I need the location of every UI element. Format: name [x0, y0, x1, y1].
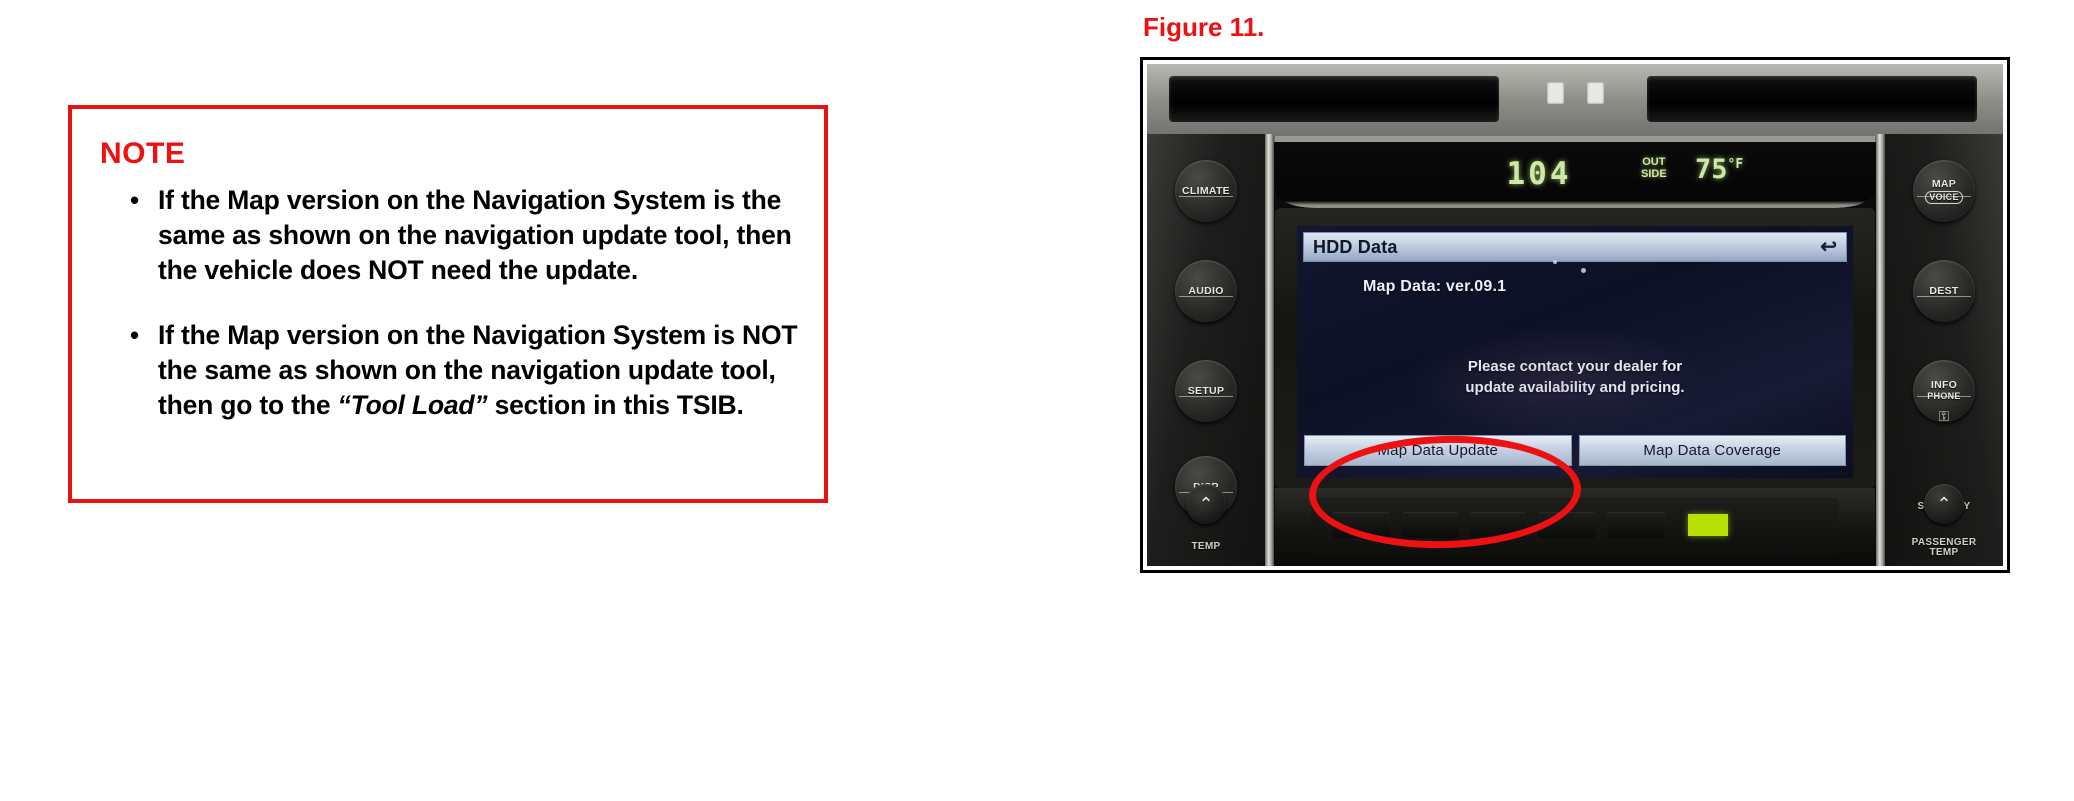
console-key[interactable] [1401, 512, 1459, 538]
note-bullet-1-text: If the Map version on the Navigation Sys… [158, 183, 810, 288]
screen-dust-speck [1581, 268, 1586, 273]
lcd-outside-label-line1: OUT [1641, 156, 1667, 168]
air-vent-right [1647, 76, 1977, 122]
vent-knob-icon[interactable] [1587, 82, 1604, 104]
nav-screen-surround: HDD Data ↩ Map Data: ver.09.1 Please con… [1275, 208, 1875, 488]
lcd-main-reading: 104 [1507, 156, 1572, 192]
audio-button[interactable]: AUDIO [1175, 260, 1237, 322]
lcd-outside-temp-value: 75 [1695, 154, 1728, 185]
nav-screen-message: Please contact your dealer for update av… [1297, 356, 1853, 398]
chevron-up-icon: ⌃ [1198, 495, 1213, 513]
note-bullet-1-part-0: If the Map version on the Navigation Sys… [158, 185, 792, 285]
setup-button-label: SETUP [1188, 386, 1225, 397]
bullet-marker-icon: • [130, 183, 158, 218]
note-bullet-list: • If the Map version on the Navigation S… [130, 183, 810, 423]
map-data-update-button[interactable]: Map Data Update [1304, 435, 1572, 466]
lcd-outside-label-line2: SIDE [1641, 168, 1667, 180]
nav-screen[interactable]: HDD Data ↩ Map Data: ver.09.1 Please con… [1297, 226, 1853, 478]
info-phone-button-label: INFO [1931, 380, 1957, 391]
security-indicator-icon: ⚿ [1937, 408, 1951, 424]
note-bullet-2-part-2: section in this TSIB. [487, 390, 743, 420]
map-data-coverage-button[interactable]: Map Data Coverage [1579, 435, 1847, 466]
temp-label-left: TEMP [1147, 542, 1265, 552]
setup-button[interactable]: SETUP [1175, 360, 1237, 422]
vent-knob-icon[interactable] [1547, 82, 1564, 104]
info-phone-button-sublabel: PHONE [1927, 391, 1961, 402]
dest-button-label: DEST [1929, 286, 1958, 297]
dashboard-photo: 104 OUT SIDE 75°F TEMP CLIMATE AUDIO SET… [1147, 64, 2003, 566]
driver-temp-up-button[interactable]: ⌃ [1186, 484, 1226, 524]
audio-button-label: AUDIO [1188, 286, 1223, 297]
chevron-up-icon: ⌃ [1936, 495, 1951, 513]
bottom-console [1275, 488, 1875, 566]
nav-screen-button-row: Map Data Update Map Data Coverage [1304, 435, 1846, 466]
nav-titlebar: HDD Data ↩ [1303, 232, 1847, 262]
figure-caption: Figure 11. [1143, 12, 1264, 43]
console-green-indicator [1688, 514, 1728, 536]
nav-screen-title: HDD Data [1313, 237, 1398, 258]
passenger-temp-label: PASSENGER TEMP [1885, 538, 2003, 558]
nav-screen-message-line2: update availability and pricing. [1297, 377, 1853, 398]
lcd-outside-temp-unit: °F [1728, 157, 1744, 172]
console-key[interactable] [1607, 512, 1665, 538]
list-item: • If the Map version on the Navigation S… [130, 183, 810, 288]
lcd-outside-label: OUT SIDE [1641, 156, 1667, 180]
passenger-temp-label-line2: TEMP [1885, 548, 2003, 558]
console-key[interactable] [1538, 512, 1596, 538]
note-bullet-2-text: If the Map version on the Navigation Sys… [158, 318, 810, 423]
map-voice-button[interactable]: MAP VOICE [1913, 160, 1975, 222]
figure-frame: 104 OUT SIDE 75°F TEMP CLIMATE AUDIO SET… [1140, 57, 2010, 573]
console-key[interactable] [1469, 512, 1527, 538]
back-arrow-icon[interactable]: ↩ [1820, 237, 1837, 257]
air-vent-left [1169, 76, 1499, 122]
nav-screen-message-line1: Please contact your dealer for [1297, 356, 1853, 377]
map-voice-button-label: MAP [1932, 179, 1956, 190]
map-data-version-text: Map Data: ver.09.1 [1363, 278, 1506, 296]
chrome-trim-right [1876, 134, 1885, 566]
map-voice-button-sublabel: VOICE [1925, 191, 1963, 204]
climate-button[interactable]: CLIMATE [1175, 160, 1237, 222]
console-key[interactable] [1332, 512, 1390, 538]
note-bullet-2-tool-load-emphasis: “Tool Load” [338, 390, 488, 420]
lcd-info-strip: 104 OUT SIDE 75°F [1275, 136, 1875, 208]
list-item: • If the Map version on the Navigation S… [130, 318, 810, 423]
bullet-marker-icon: • [130, 318, 158, 353]
screen-dust-speck [1553, 260, 1557, 264]
note-title: NOTE [100, 137, 185, 171]
chrome-trim-left [1265, 134, 1274, 566]
console-panel [1311, 498, 1839, 554]
note-box: NOTE • If the Map version on the Navigat… [68, 105, 828, 503]
dashboard-top-trim [1147, 64, 2003, 142]
climate-button-label: CLIMATE [1182, 186, 1230, 197]
dest-button[interactable]: DEST [1913, 260, 1975, 322]
passenger-temp-up-button[interactable]: ⌃ [1924, 484, 1964, 524]
lcd-outside-temperature: 75°F [1695, 154, 1743, 185]
